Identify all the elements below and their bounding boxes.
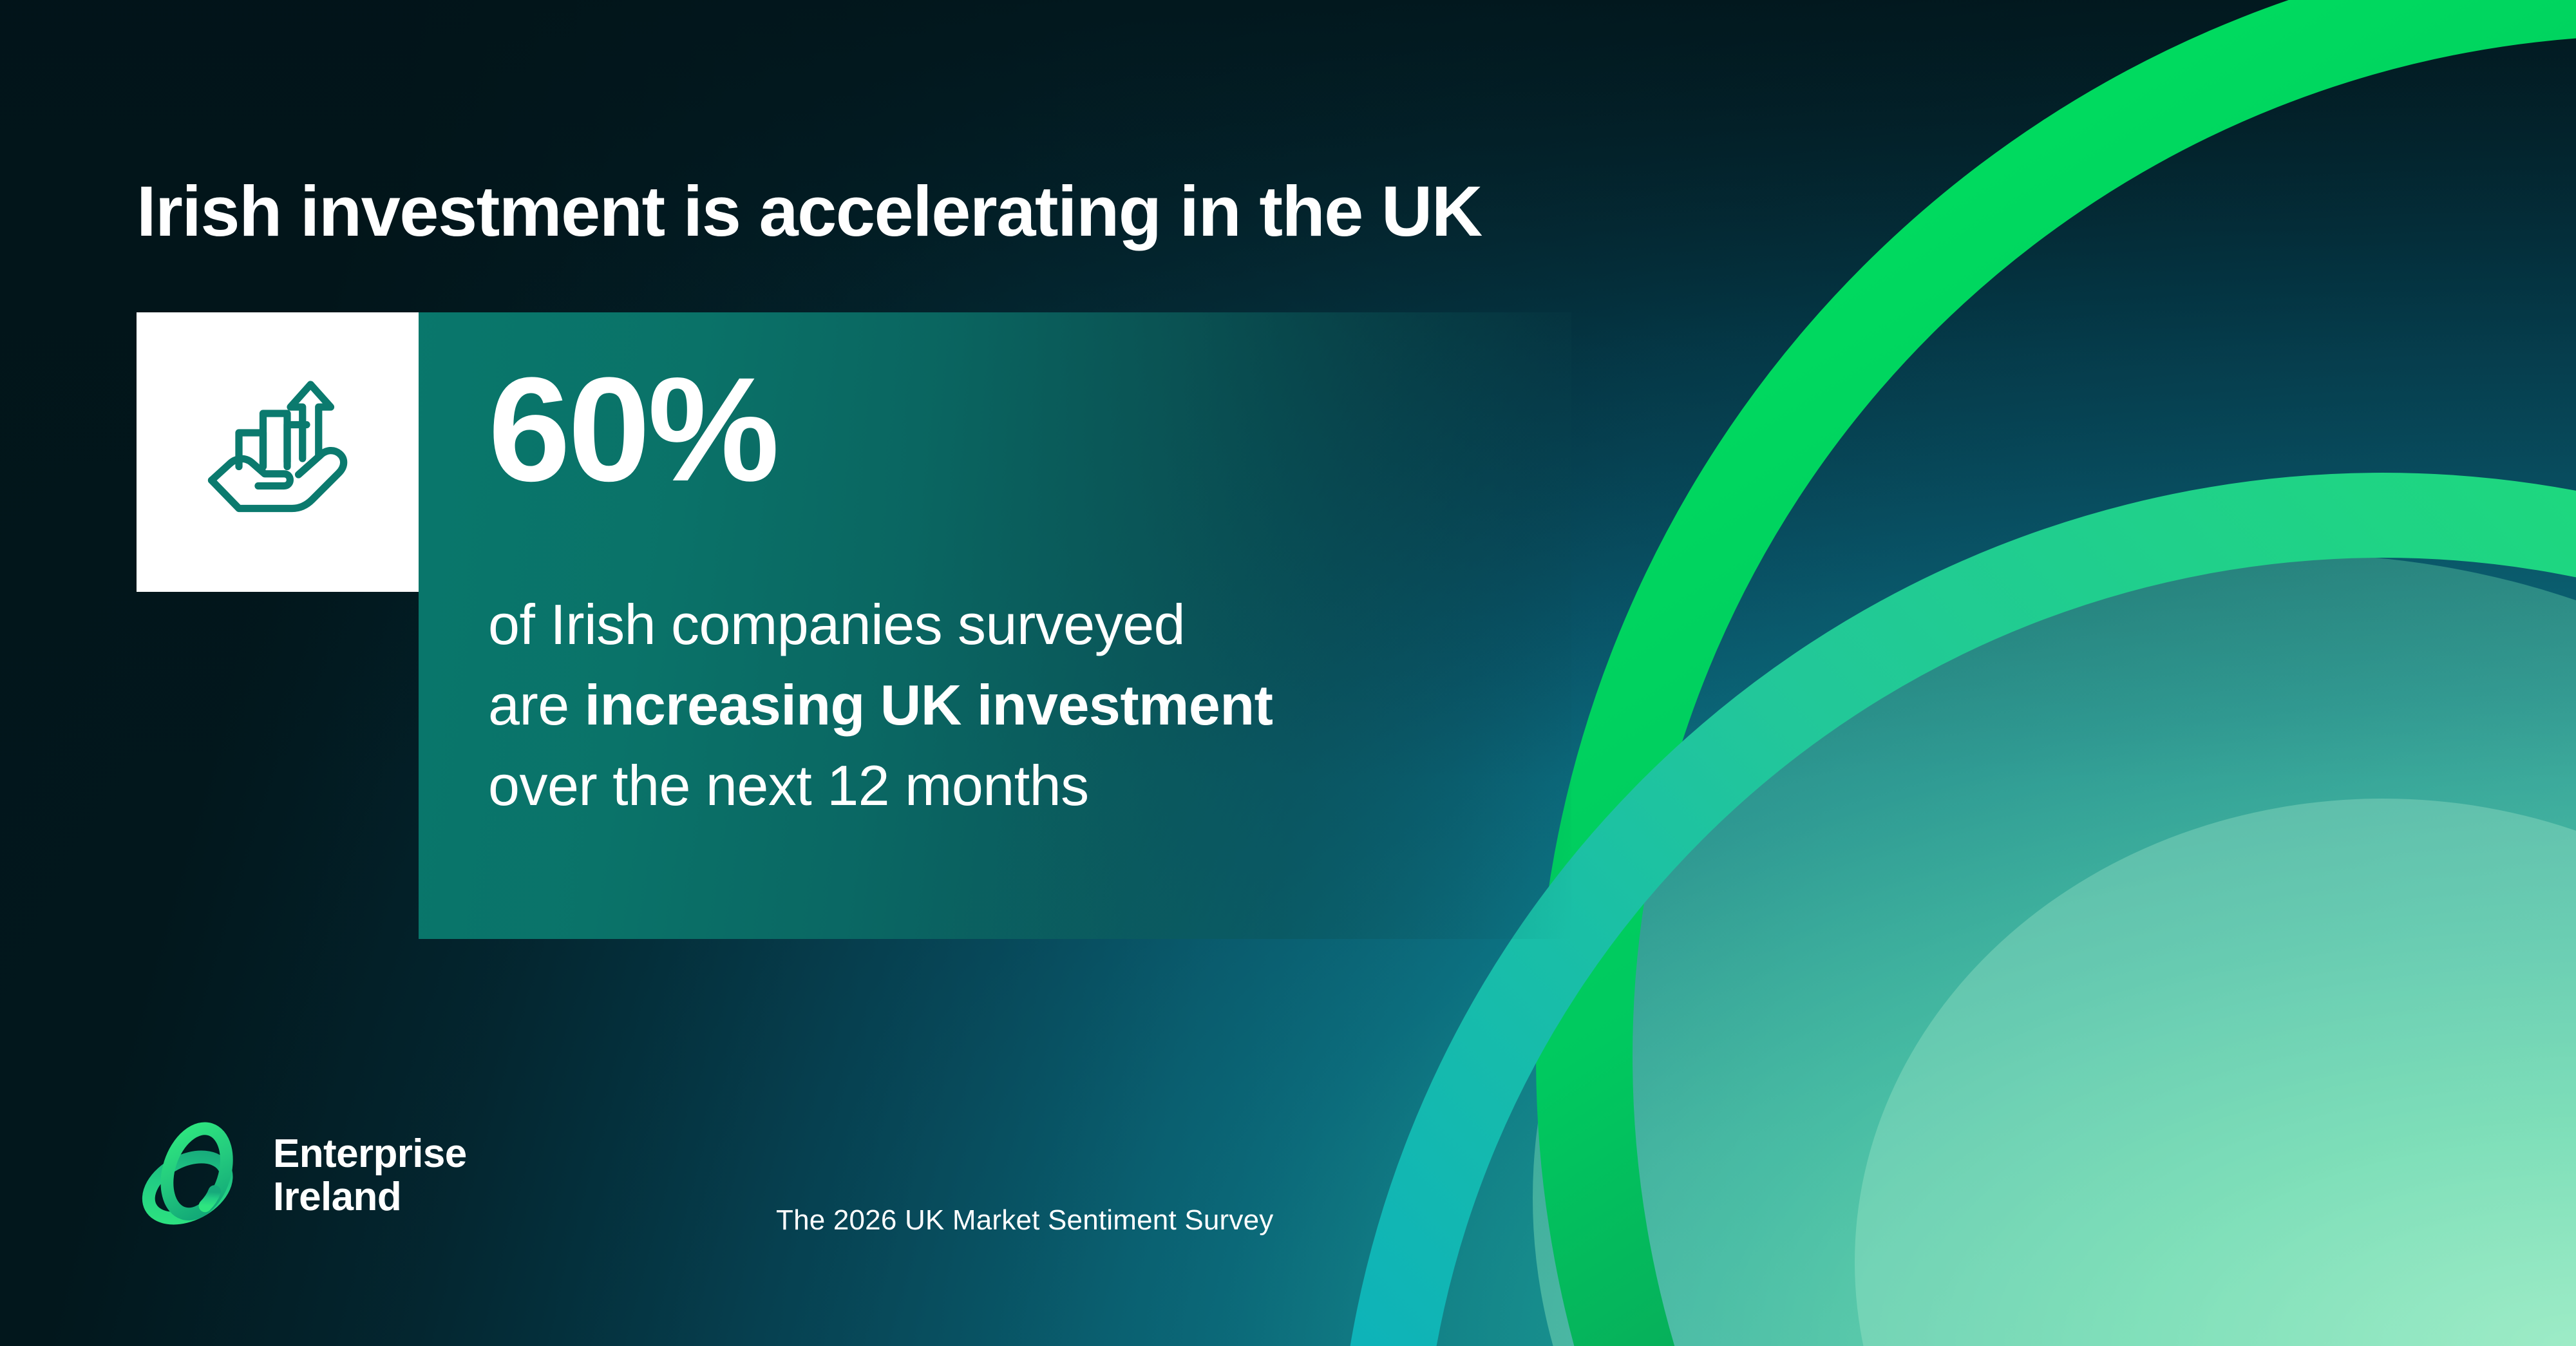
- brand-logo-line-2: Ireland: [273, 1176, 467, 1219]
- hand-holding-growth-chart-icon: [197, 372, 358, 533]
- infographic-canvas: Irish investment is accelerating in the …: [0, 0, 2576, 1346]
- stat-line-1: of Irish companies surveyed: [488, 585, 1493, 665]
- source-caption: The 2026 UK Market Sentiment Survey: [776, 1204, 1273, 1237]
- brand-logo-line-1: Enterprise: [273, 1133, 467, 1176]
- stat-description: of Irish companies surveyed are increasi…: [488, 585, 1493, 826]
- stat-icon-tile: [137, 312, 419, 592]
- stat-number: 60%: [488, 355, 777, 504]
- stat-line-2-emphasis: increasing UK investment: [585, 673, 1273, 737]
- brand-logo-wordmark: Enterprise Ireland: [273, 1133, 467, 1219]
- stat-line-3: over the next 12 months: [488, 746, 1493, 826]
- page-title: Irish investment is accelerating in the …: [137, 174, 2197, 251]
- enterprise-ireland-rings-icon: [137, 1118, 252, 1234]
- stat-line-2-prefix: are: [488, 673, 585, 737]
- stat-line-2: are increasing UK investment: [488, 665, 1493, 746]
- brand-logo: Enterprise Ireland: [137, 1118, 467, 1234]
